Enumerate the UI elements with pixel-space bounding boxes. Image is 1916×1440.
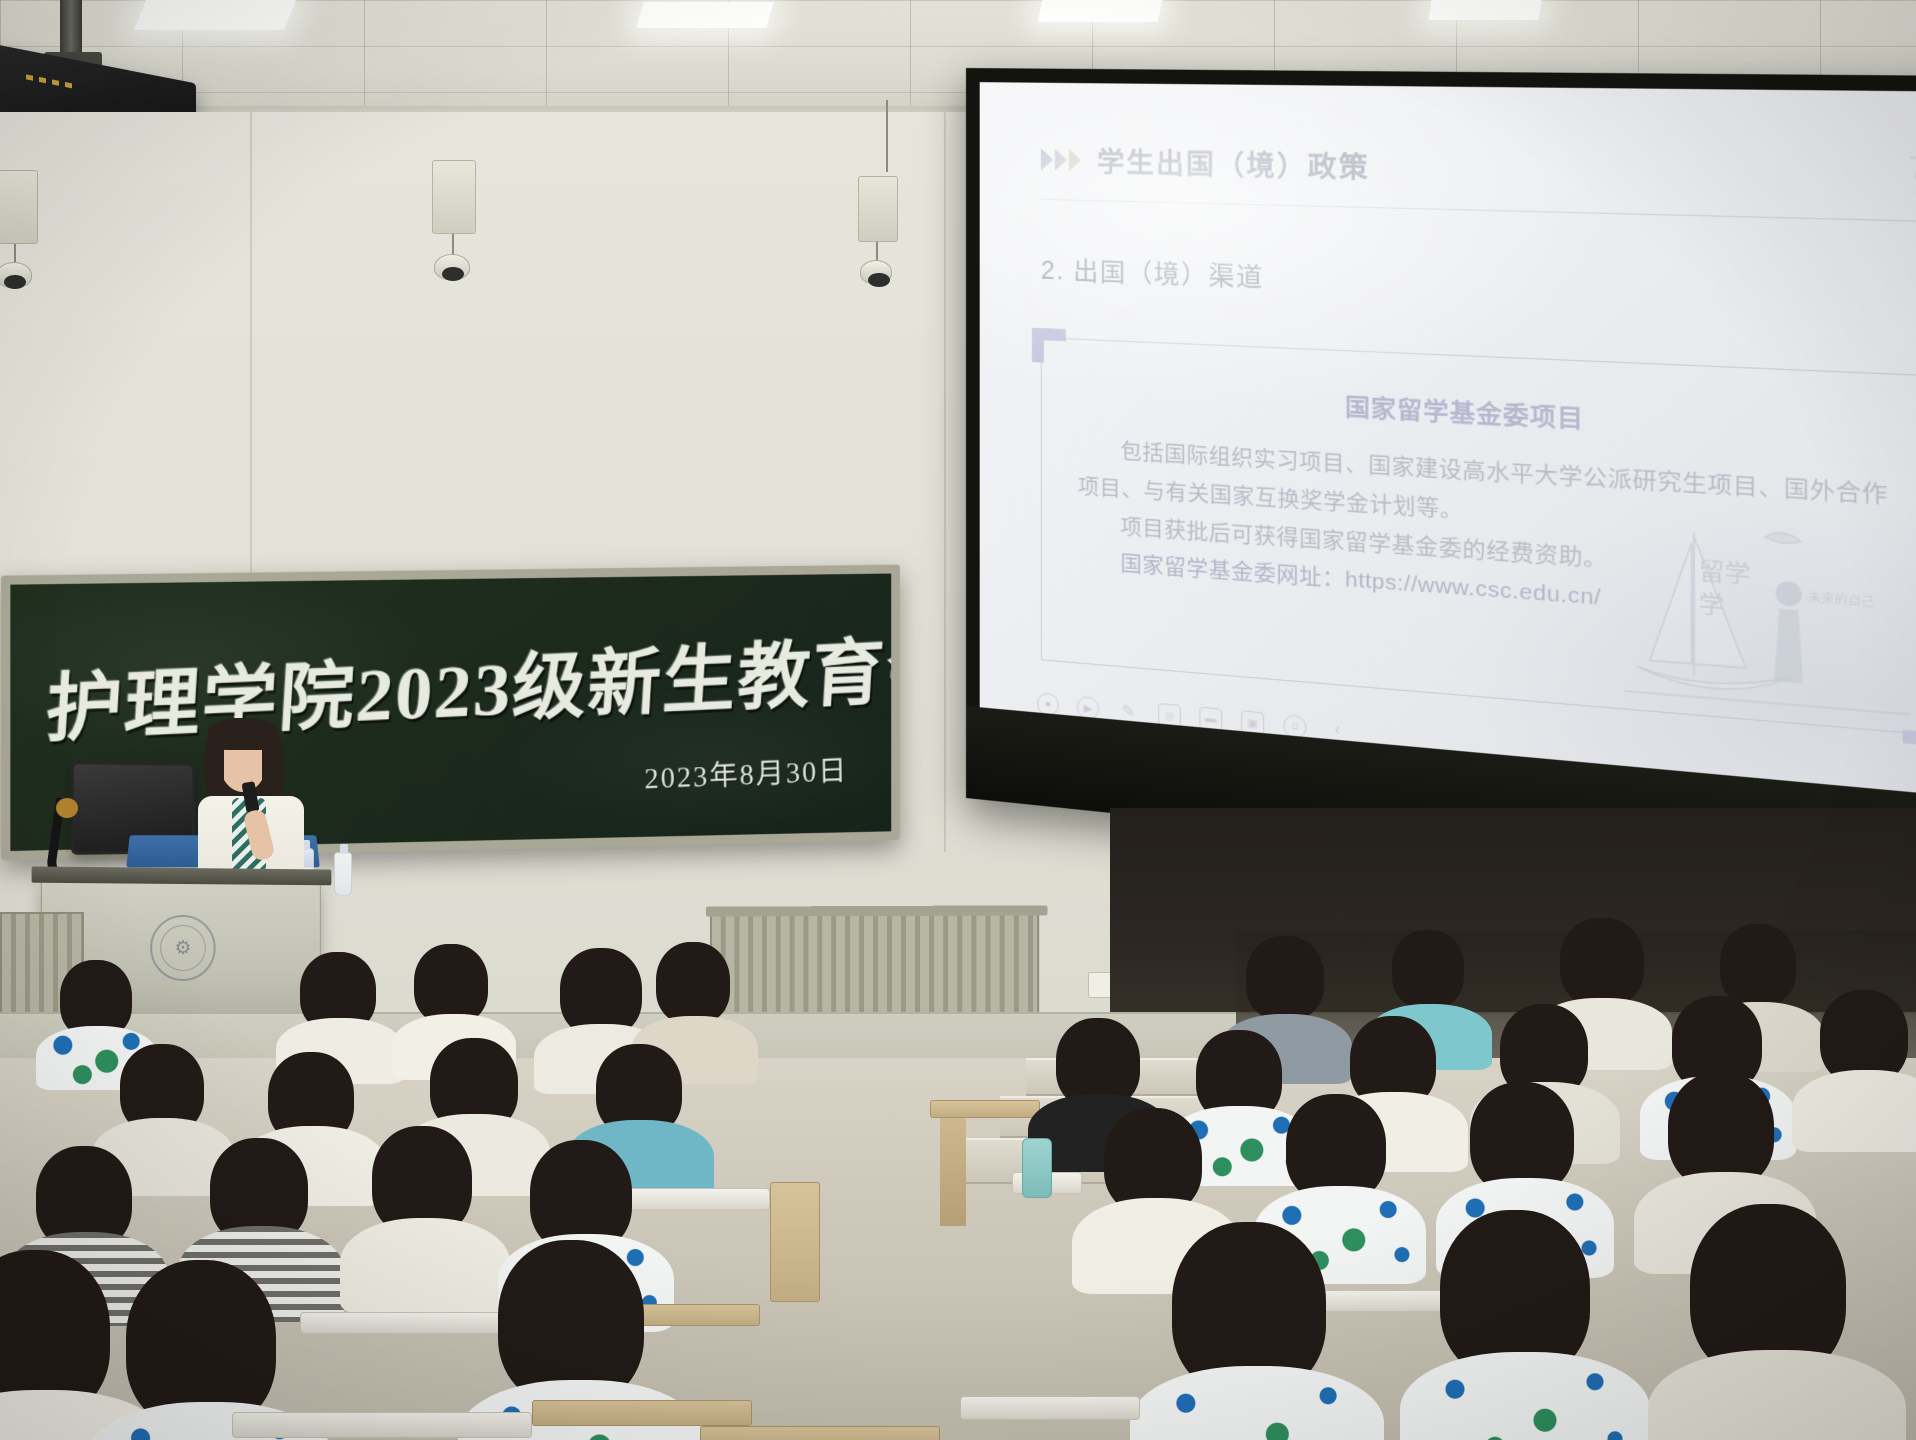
wall-equipment-box — [858, 176, 898, 242]
audience-shoulders — [340, 1218, 510, 1314]
slide-content-box: 国家留学基金委项目 包括国际组织实习项目、国家建设高水平大学公派研究生项目、国外… — [1041, 337, 1916, 735]
wall-equipment-box — [432, 160, 476, 234]
radiator-top-rail — [706, 905, 1047, 916]
slide-title-divider — [1041, 199, 1916, 222]
wall-equipment-box — [0, 170, 38, 244]
presentation-slide: 学生出国（境）政策 7 2. 出国（境）渠道 国家留学基金委项目 包括国际组织实… — [980, 82, 1916, 819]
blackboard-date: 2023年8月30日 — [644, 747, 849, 797]
chevron-right-icon — [1041, 148, 1081, 171]
microphone-icon — [56, 798, 78, 818]
camera-cord — [452, 234, 454, 256]
presenter-hair-left — [204, 732, 224, 806]
watermark-text: 留学 — [1699, 558, 1751, 588]
slide-page-number: 7 — [1908, 150, 1916, 189]
water-cup — [1022, 1138, 1052, 1198]
desk-rail — [232, 1412, 532, 1438]
audience-head — [1668, 1072, 1774, 1188]
desk-leg — [940, 1118, 966, 1226]
hanging-cable — [886, 100, 888, 172]
lectern-top-edge — [32, 866, 332, 885]
audience-shoulders — [1130, 1366, 1384, 1440]
audience — [0, 960, 1916, 1440]
audience-head — [414, 944, 488, 1024]
water-bottle — [334, 852, 352, 896]
sailboat-watermark-illustration: 留学 学 未来的自己 — [1624, 506, 1910, 725]
watermark-caption: 未来的自己 — [1808, 589, 1875, 609]
projector-status-leds — [26, 74, 78, 89]
slide-section-heading: 2. 出国（境）渠道 — [1041, 250, 1916, 319]
ceiling-light — [1428, 0, 1541, 20]
slide-header-title: 学生出国（境）政策 — [1097, 140, 1370, 186]
dome-camera-icon — [860, 260, 892, 284]
corner-bracket-icon — [1032, 328, 1066, 364]
audience-head — [656, 942, 730, 1024]
projection-screen-surface: 学生出国（境）政策 7 2. 出国（境）渠道 国家留学基金委项目 包括国际组织实… — [980, 82, 1916, 819]
slide-header-row: 学生出国（境）政策 — [1041, 139, 1916, 198]
ceiling-light — [134, 0, 296, 30]
dome-camera-icon — [434, 254, 470, 280]
audience-head — [560, 948, 642, 1036]
desk-surface — [532, 1400, 752, 1426]
audience-head — [1560, 918, 1644, 1006]
audience-head — [1392, 930, 1464, 1008]
projection-screen: 学生出国（境）政策 7 2. 出国（境）渠道 国家留学基金委项目 包括国际组织实… — [966, 68, 1916, 907]
lecture-hall-photo: 学生出国（境）政策 7 2. 出国（境）渠道 国家留学基金委项目 包括国际组织实… — [0, 0, 1916, 1440]
desk-surface — [930, 1100, 1040, 1118]
audience-shoulders — [1648, 1350, 1906, 1440]
audience-shoulders — [1792, 1070, 1916, 1152]
ceiling-light — [636, 2, 773, 28]
audience-head — [1246, 936, 1324, 1020]
dome-camera-icon — [0, 262, 32, 288]
ceiling-light — [1038, 0, 1163, 22]
svg-text:学: 学 — [1699, 591, 1725, 619]
audience-head — [1720, 924, 1796, 1006]
desk-rail — [960, 1396, 1140, 1420]
desk-surface — [770, 1182, 820, 1302]
audience-shoulders — [1400, 1352, 1650, 1440]
desk-surface — [700, 1426, 940, 1440]
camera-cord — [876, 242, 878, 262]
wall-seam — [944, 112, 946, 852]
